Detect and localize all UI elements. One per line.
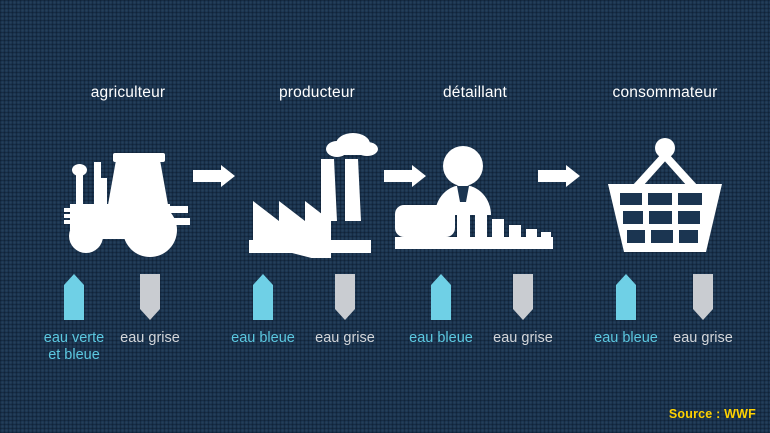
- flow-arrow-right-icon: [538, 165, 580, 187]
- water-indicator: eau grise: [643, 274, 763, 347]
- water-arrow-down-icon: [463, 274, 583, 322]
- water-label: eau grise: [643, 330, 763, 347]
- stage-title: consommateur: [550, 84, 770, 102]
- water-indicator: eau grise: [90, 274, 210, 347]
- water-arrow-down-icon: [90, 274, 210, 322]
- water-label: eau grise: [463, 330, 583, 347]
- basket-icon: [550, 128, 770, 258]
- flow-arrow-right-icon: [193, 165, 235, 187]
- infographic-canvas: agriculteur: [0, 0, 770, 433]
- water-label: eau grise: [90, 330, 210, 347]
- water-arrow-down-icon: [643, 274, 763, 322]
- flow-arrow-right-icon: [384, 165, 426, 187]
- water-indicator: eau grise: [463, 274, 583, 347]
- source-credit: Source : WWF: [669, 407, 756, 421]
